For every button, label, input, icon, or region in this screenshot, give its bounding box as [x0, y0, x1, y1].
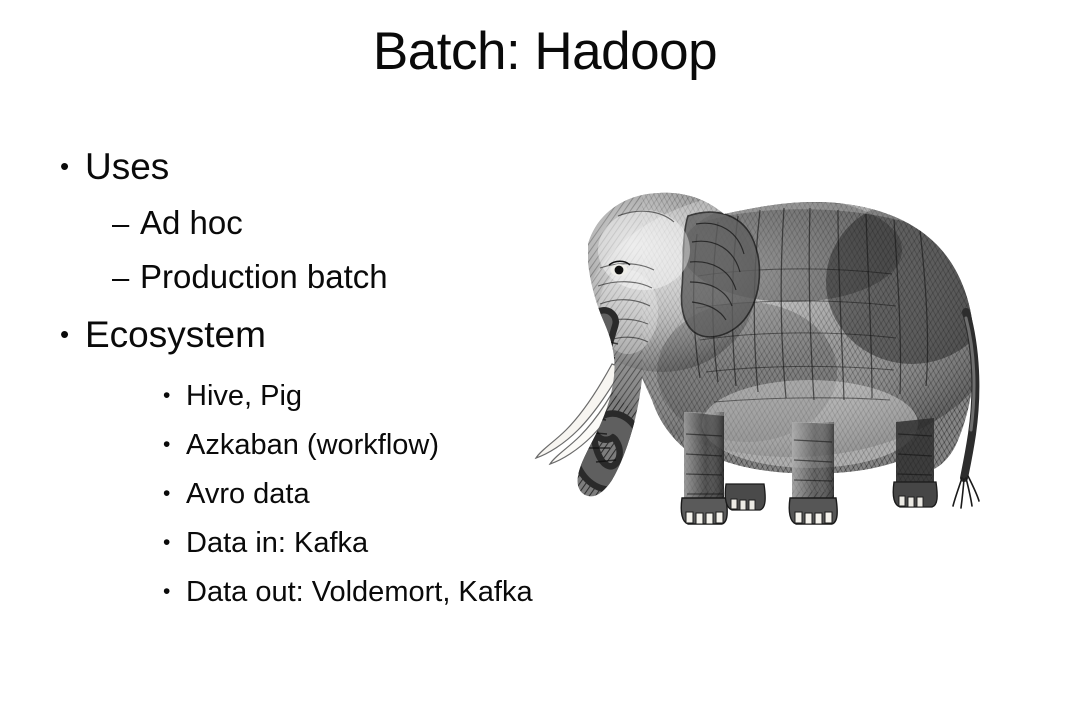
en-dash-icon: – [112, 262, 140, 293]
bullet-dot-icon: • [163, 483, 186, 504]
outline-item-ecosystem: • Ecosystem [0, 316, 520, 368]
outline-item-label: Production batch [140, 260, 388, 293]
outline-item-uses: • Uses [0, 148, 520, 200]
outline-item-ad-hoc: – Ad hoc [0, 206, 520, 252]
slide-title: Batch: Hadoop [0, 22, 1090, 81]
outline-item-production-batch: – Production batch [0, 260, 520, 306]
elephant-icon [492, 172, 1002, 542]
outline-item-data-out: • Data out: Voldemort, Kafka [0, 578, 520, 612]
slide: Batch: Hadoop • Uses – Ad hoc – Producti… [0, 0, 1090, 704]
outline-item-hive-pig: • Hive, Pig [0, 382, 520, 416]
outline-item-label: Data in: Kafka [186, 529, 368, 558]
bullet-dot-icon: • [163, 532, 186, 553]
bullet-dot-icon: • [163, 434, 186, 455]
outline-item-label: Ad hoc [140, 206, 243, 239]
outline-item-label: Azkaban (workflow) [186, 431, 439, 460]
outline-item-azkaban: • Azkaban (workflow) [0, 431, 520, 465]
outline-item-avro-data: • Avro data [0, 480, 520, 514]
outline-item-data-in: • Data in: Kafka [0, 529, 520, 563]
outline-list: • Uses – Ad hoc – Production batch • Eco… [0, 148, 520, 627]
bullet-dot-icon: • [163, 385, 186, 406]
en-dash-icon: – [112, 208, 140, 239]
bullet-dot-icon: • [163, 581, 186, 602]
bullet-dot-icon: • [60, 321, 85, 347]
outline-item-label: Hive, Pig [186, 382, 302, 411]
outline-item-label: Avro data [186, 480, 310, 509]
bullet-dot-icon: • [60, 153, 85, 179]
outline-item-label: Ecosystem [85, 316, 266, 353]
outline-item-label: Data out: Voldemort, Kafka [186, 578, 533, 607]
outline-item-label: Uses [85, 148, 169, 185]
